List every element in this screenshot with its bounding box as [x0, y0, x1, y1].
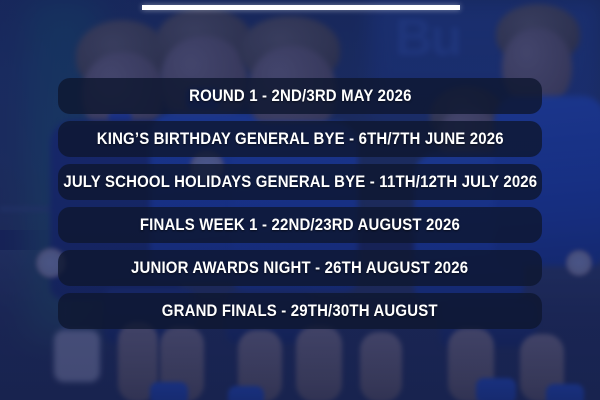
schedule-row-2-label: KING’S BIRTHDAY GENERAL BYE - 6TH/7TH JU… [96, 129, 503, 149]
schedule-row-5-label: JUNIOR AWARDS NIGHT - 26TH AUGUST 2026 [131, 258, 468, 278]
schedule-row-6: GRAND FINALS - 29TH/30TH AUGUST [0, 293, 600, 329]
schedule-row-4-label: FINALS WEEK 1 - 22ND/23RD AUGUST 2026 [140, 215, 460, 235]
schedule-row-3-label: JULY SCHOOL HOLIDAYS GENERAL BYE - 11TH/… [63, 172, 537, 192]
schedule-row-1-label: ROUND 1 - 2ND/3RD MAY 2026 [189, 86, 411, 106]
schedule-row-2: KING’S BIRTHDAY GENERAL BYE - 6TH/7TH JU… [0, 121, 600, 157]
schedule-row-6-label: GRAND FINALS - 29TH/30TH AUGUST [162, 301, 438, 321]
schedule-list: ROUND 1 - 2ND/3RD MAY 2026 KING’S BIRTHD… [0, 78, 600, 336]
season-key-dates-graphic: Bu [0, 0, 600, 400]
top-divider-rule [142, 5, 460, 10]
schedule-row-1: ROUND 1 - 2ND/3RD MAY 2026 [0, 78, 600, 114]
schedule-row-3: JULY SCHOOL HOLIDAYS GENERAL BYE - 11TH/… [0, 164, 600, 200]
schedule-row-4: FINALS WEEK 1 - 22ND/23RD AUGUST 2026 [0, 207, 600, 243]
schedule-row-5: JUNIOR AWARDS NIGHT - 26TH AUGUST 2026 [0, 250, 600, 286]
